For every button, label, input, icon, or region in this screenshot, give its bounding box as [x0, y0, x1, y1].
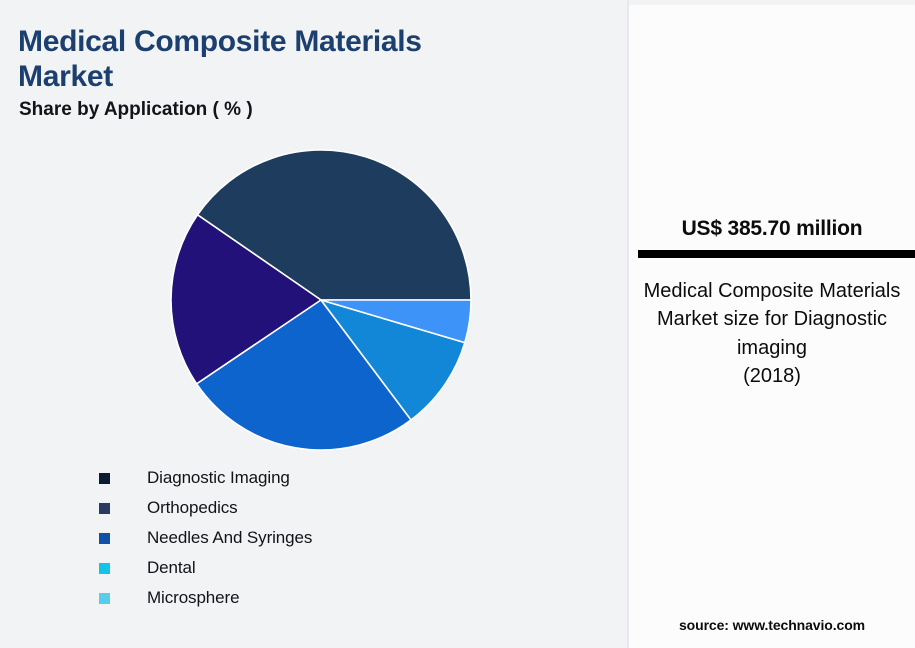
legend-item-label: Needles And Syringes	[147, 528, 312, 548]
chart-legend: Diagnostic Imaging Orthopedics Needles A…	[99, 463, 579, 613]
infographic-root: Medical Composite Materials Market Share…	[0, 0, 915, 648]
legend-swatch-icon	[99, 533, 110, 544]
legend-swatch-icon	[99, 593, 110, 604]
legend-item-microsphere[interactable]: Microsphere	[99, 583, 579, 613]
legend-item-label: Microsphere	[147, 588, 239, 608]
source-note: source: www.technavio.com	[629, 617, 915, 633]
legend-item-diagnostic-imaging[interactable]: Diagnostic Imaging	[99, 463, 579, 493]
page-title: Medical Composite Materials Market	[18, 24, 518, 95]
kpi-value: US$ 385.70 million	[629, 217, 915, 241]
legend-item-label: Orthopedics	[147, 498, 238, 518]
legend-item-dental[interactable]: Dental	[99, 553, 579, 583]
legend-swatch-icon	[99, 503, 110, 514]
pie-slice-group	[171, 150, 471, 450]
legend-swatch-icon	[99, 563, 110, 574]
pie-chart-svg	[150, 130, 495, 475]
kpi-panel: US$ 385.70 million Medical Composite Mat…	[629, 5, 915, 648]
chart-subtitle: Share by Application ( % )	[19, 99, 253, 121]
kpi-rule-divider	[638, 250, 915, 258]
pie-chart	[150, 130, 495, 475]
kpi-caption: Medical Composite Materials Market size …	[637, 277, 907, 391]
legend-item-label: Diagnostic Imaging	[147, 468, 290, 488]
legend-item-label: Dental	[147, 558, 196, 578]
legend-item-needles-and-syringes[interactable]: Needles And Syringes	[99, 523, 579, 553]
chart-panel: Medical Composite Materials Market Share…	[0, 0, 627, 648]
legend-item-orthopedics[interactable]: Orthopedics	[99, 493, 579, 523]
legend-swatch-icon	[99, 473, 110, 484]
